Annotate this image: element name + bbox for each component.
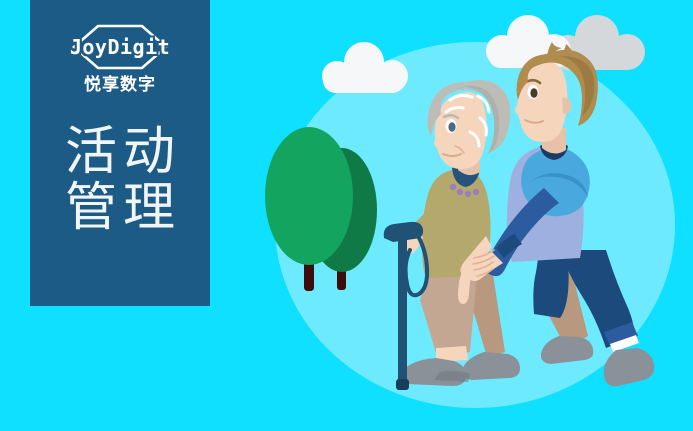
page-title-line-1: 活动 — [59, 124, 181, 180]
man-eye-iris — [530, 88, 537, 98]
woman-eye-iris — [448, 122, 455, 132]
logo-subtitle: 悦享数字 — [84, 77, 156, 94]
page-title: 活动 管理 — [59, 124, 181, 236]
poster-canvas: JoyDigit 悦享数字 活动 管理 — [0, 0, 693, 431]
cane-tip — [396, 379, 409, 390]
brand-logo: JoyDigit 悦享数字 — [45, 24, 195, 102]
logo-wordmark: JoyDigit — [70, 37, 170, 57]
logo-mark: JoyDigit — [45, 24, 195, 70]
title-banner-panel: JoyDigit 悦享数字 活动 管理 — [30, 0, 210, 306]
page-title-line-2: 管理 — [59, 180, 181, 236]
